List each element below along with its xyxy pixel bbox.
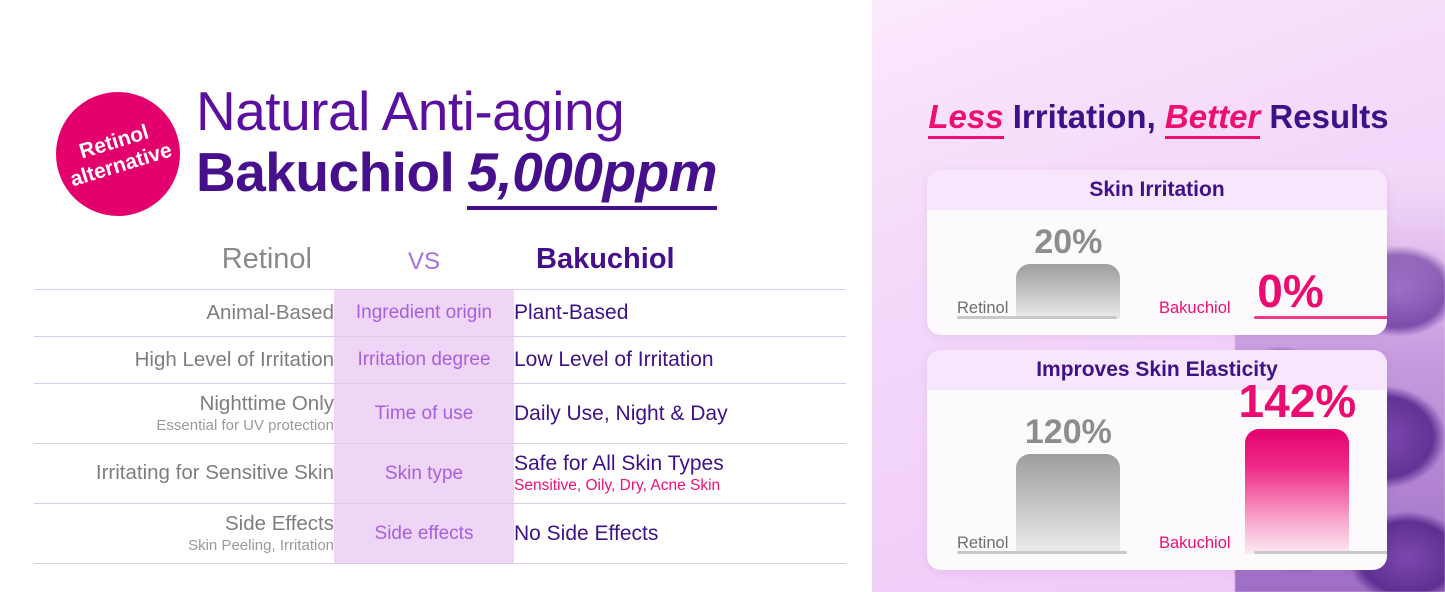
chart-card-skin-irritation: Skin Irritation Retinol 20% Bakuchiol — [927, 170, 1387, 335]
bar-column: 142% — [1239, 378, 1357, 554]
row-4-retinol-main: Side Effects — [225, 512, 334, 535]
bar-value-retinol: 120% — [1025, 415, 1112, 449]
table-row: Side Effects Skin Peeling, Irritation Si… — [34, 504, 846, 564]
row-0-retinol-main: Animal-Based — [206, 301, 334, 324]
card-body-skin-irritation: Retinol 20% Bakuchiol 0% — [927, 210, 1387, 335]
row-4-bakuchiol-main: No Side Effects — [514, 522, 658, 545]
headline-line-1: Natural Anti-aging — [196, 82, 717, 140]
row-4-bakuchiol-value: No Side Effects — [514, 504, 846, 564]
row-0-bakuchiol-main: Plant-Based — [514, 301, 628, 324]
bar-value-bakuchiol: 0% — [1257, 268, 1323, 314]
headline-product-name: Bakuchiol — [196, 140, 454, 205]
bar-wrap: Bakuchiol 142% — [1159, 378, 1356, 554]
comparison-table: Retinol VS Bakuchiol Animal-Based Ingred… — [34, 243, 846, 564]
bar-group-bakuchiol-elasticity: Bakuchiol 142% — [1159, 378, 1356, 554]
row-1-retinol-main: High Level of Irritation — [135, 348, 334, 371]
row-1-bakuchiol-value: Low Level of Irritation — [514, 337, 846, 384]
bar-retinol-irritation — [1016, 264, 1120, 319]
bar-bakuchiol-elasticity — [1245, 429, 1349, 554]
headline-tail-text: Results — [1260, 98, 1388, 135]
bar-group-bakuchiol-irritation: Bakuchiol 0% — [1159, 268, 1343, 319]
row-0-attribute: Ingredient origin — [334, 290, 514, 337]
page-title: Natural Anti-aging Bakuchiol 5,000ppm — [196, 82, 717, 210]
retinol-alternative-badge: Retinol alternative — [56, 92, 180, 216]
column-header-retinol: Retinol — [34, 243, 334, 290]
row-3-retinol-value: Irritating for Sensitive Skin — [34, 444, 334, 504]
row-2-retinol-sub: Essential for UV protection — [34, 417, 334, 435]
row-1-bakuchiol-main: Low Level of Irritation — [514, 348, 714, 371]
row-4-retinol-value: Side Effects Skin Peeling, Irritation — [34, 504, 334, 564]
baseline-bakuchiol — [1254, 316, 1387, 319]
left-panel: Retinol alternative Natural Anti-aging B… — [0, 0, 872, 592]
headline-middle-text: Irritation, — [1004, 98, 1165, 135]
right-panel: Less Irritation, Better Results Skin Irr… — [872, 0, 1445, 592]
row-3-bakuchiol-sub: Sensitive, Oily, Dry, Acne Skin — [514, 477, 846, 496]
row-1-attribute: Irritation degree — [334, 337, 514, 384]
bar-retinol-elasticity — [1016, 454, 1120, 554]
baseline-retinol — [957, 316, 1117, 319]
card-title-skin-irritation: Skin Irritation — [927, 170, 1387, 210]
baseline-retinol — [957, 551, 1127, 554]
column-header-bakuchiol: Bakuchiol — [514, 243, 846, 290]
right-panel-headline: Less Irritation, Better Results — [872, 98, 1445, 136]
row-0-bakuchiol-value: Plant-Based — [514, 290, 846, 337]
row-4-attribute: Side effects — [334, 504, 514, 564]
row-2-retinol-value: Nighttime Only Essential for UV protecti… — [34, 384, 334, 444]
bar-group-retinol-elasticity: Retinol 120% — [957, 415, 1120, 554]
bar-column: 0% — [1239, 268, 1343, 319]
row-2-attribute: Time of use — [334, 384, 514, 444]
bar-value-bakuchiol: 142% — [1239, 378, 1357, 424]
bar-group-retinol-irritation: Retinol 20% — [957, 225, 1120, 319]
table-row: Nighttime Only Essential for UV protecti… — [34, 384, 846, 444]
table-row: Irritating for Sensitive Skin Skin type … — [34, 444, 846, 504]
table-header-row: Retinol VS Bakuchiol — [34, 243, 846, 290]
headline-concentration: 5,000ppm — [467, 140, 717, 210]
row-4-retinol-sub: Skin Peeling, Irritation — [34, 537, 334, 555]
headline-emphasis-less: Less — [928, 98, 1003, 139]
bar-wrap: Retinol 20% — [957, 225, 1120, 319]
badge-text: Retinol alternative — [61, 116, 175, 192]
row-1-retinol-value: High Level of Irritation — [34, 337, 334, 384]
card-body-skin-elasticity: Retinol 120% Bakuchiol 142% — [927, 390, 1387, 570]
table-row: Animal-Based Ingredient origin Plant-Bas… — [34, 290, 846, 337]
row-3-bakuchiol-main: Safe for All Skin Types — [514, 452, 724, 475]
row-3-attribute: Skin type — [334, 444, 514, 504]
row-2-bakuchiol-main: Daily Use, Night & Day — [514, 402, 728, 425]
baseline-bakuchiol — [1254, 551, 1387, 554]
row-0-retinol-value: Animal-Based — [34, 290, 334, 337]
bar-label-bakuchiol: Bakuchiol — [1159, 300, 1239, 320]
bar-column: 20% — [1016, 225, 1120, 319]
row-2-bakuchiol-value: Daily Use, Night & Day — [514, 384, 846, 444]
headline-line-2: Bakuchiol 5,000ppm — [196, 140, 717, 210]
bar-wrap: Retinol 120% — [957, 415, 1120, 554]
bar-wrap: Bakuchiol 0% — [1159, 268, 1343, 319]
bar-label-bakuchiol: Bakuchiol — [1159, 535, 1239, 555]
chart-card-skin-elasticity: Improves Skin Elasticity Retinol 120% Ba… — [927, 350, 1387, 570]
table-row: High Level of Irritation Irritation degr… — [34, 337, 846, 384]
bar-column: 120% — [1016, 415, 1120, 554]
column-header-vs: VS — [334, 243, 514, 290]
bar-value-retinol: 20% — [1034, 225, 1102, 259]
title-block: Retinol alternative Natural Anti-aging B… — [48, 82, 848, 227]
row-2-retinol-main: Nighttime Only — [200, 392, 334, 415]
row-3-bakuchiol-value: Safe for All Skin Types Sensitive, Oily,… — [514, 444, 846, 504]
infographic-page: Retinol alternative Natural Anti-aging B… — [0, 0, 1445, 592]
headline-emphasis-better: Better — [1165, 98, 1260, 139]
row-3-retinol-main: Irritating for Sensitive Skin — [96, 461, 334, 484]
